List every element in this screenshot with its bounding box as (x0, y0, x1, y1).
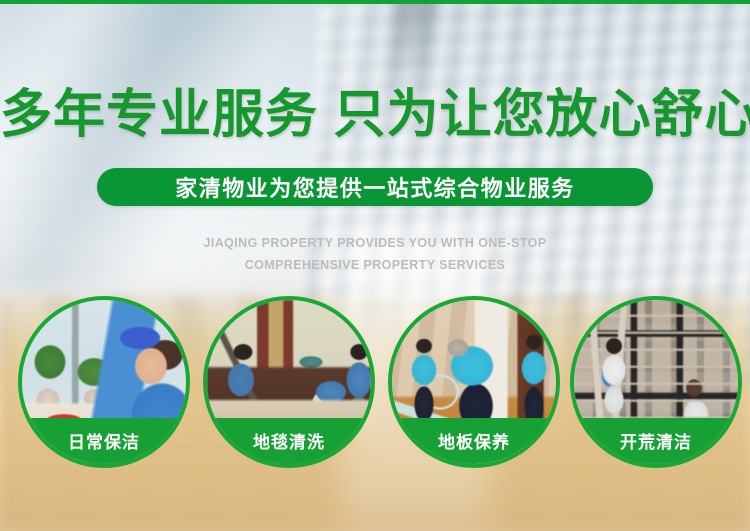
service-card-label: 开荒清洁 (570, 418, 742, 464)
service-card-carpet-cleaning[interactable]: 地毯清洗 (203, 296, 375, 468)
tagline-text: 家清物业为您提供一站式综合物业服务 (97, 168, 653, 206)
service-card-label: 日常保洁 (18, 418, 190, 464)
headline: 多年专业服务 只为让您放心舒心 (0, 84, 750, 146)
service-card-floor-maintenance[interactable]: 地板保养 (388, 296, 560, 468)
promo-banner: 多年专业服务 只为让您放心舒心 家清物业为您提供一站式综合物业服务 JIAQIN… (0, 0, 750, 531)
service-card-label: 地板保养 (388, 418, 560, 464)
service-card-label: 地毯清洗 (203, 418, 375, 464)
top-green-rule (0, 0, 750, 4)
english-subtitle-line-1: JIAQING PROPERTY PROVIDES YOU WITH ONE-S… (0, 232, 750, 254)
service-card-daily-cleaning[interactable]: 日常保洁 (18, 296, 190, 468)
english-subtitle-line-2: COMPREHENSIVE PROPERTY SERVICES (0, 254, 750, 276)
service-card-post-construction-cleaning[interactable]: 开荒清洁 (570, 296, 742, 468)
english-subtitle: JIAQING PROPERTY PROVIDES YOU WITH ONE-S… (0, 232, 750, 276)
tagline-pill: 家清物业为您提供一站式综合物业服务 (97, 168, 653, 206)
